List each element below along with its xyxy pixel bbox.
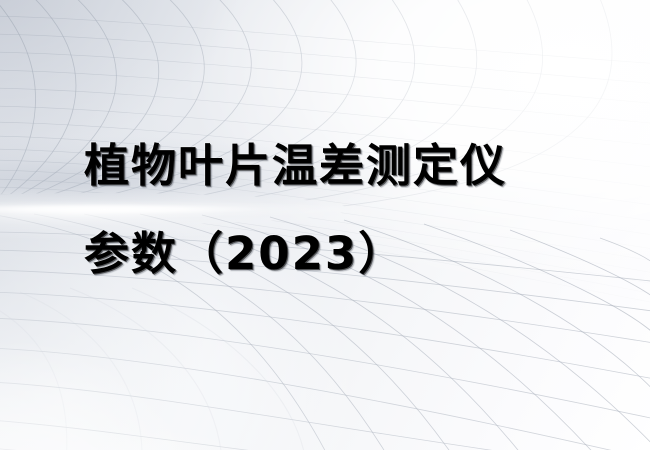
slide-canvas: 植物叶片温差测定仪 参数（2023） xyxy=(0,0,650,450)
slide-title: 植物叶片温差测定仪 参数（2023） xyxy=(84,122,604,298)
slide-title-line-2: 参数（2023） xyxy=(84,210,604,298)
slide-title-line-1: 植物叶片温差测定仪 xyxy=(84,122,604,210)
